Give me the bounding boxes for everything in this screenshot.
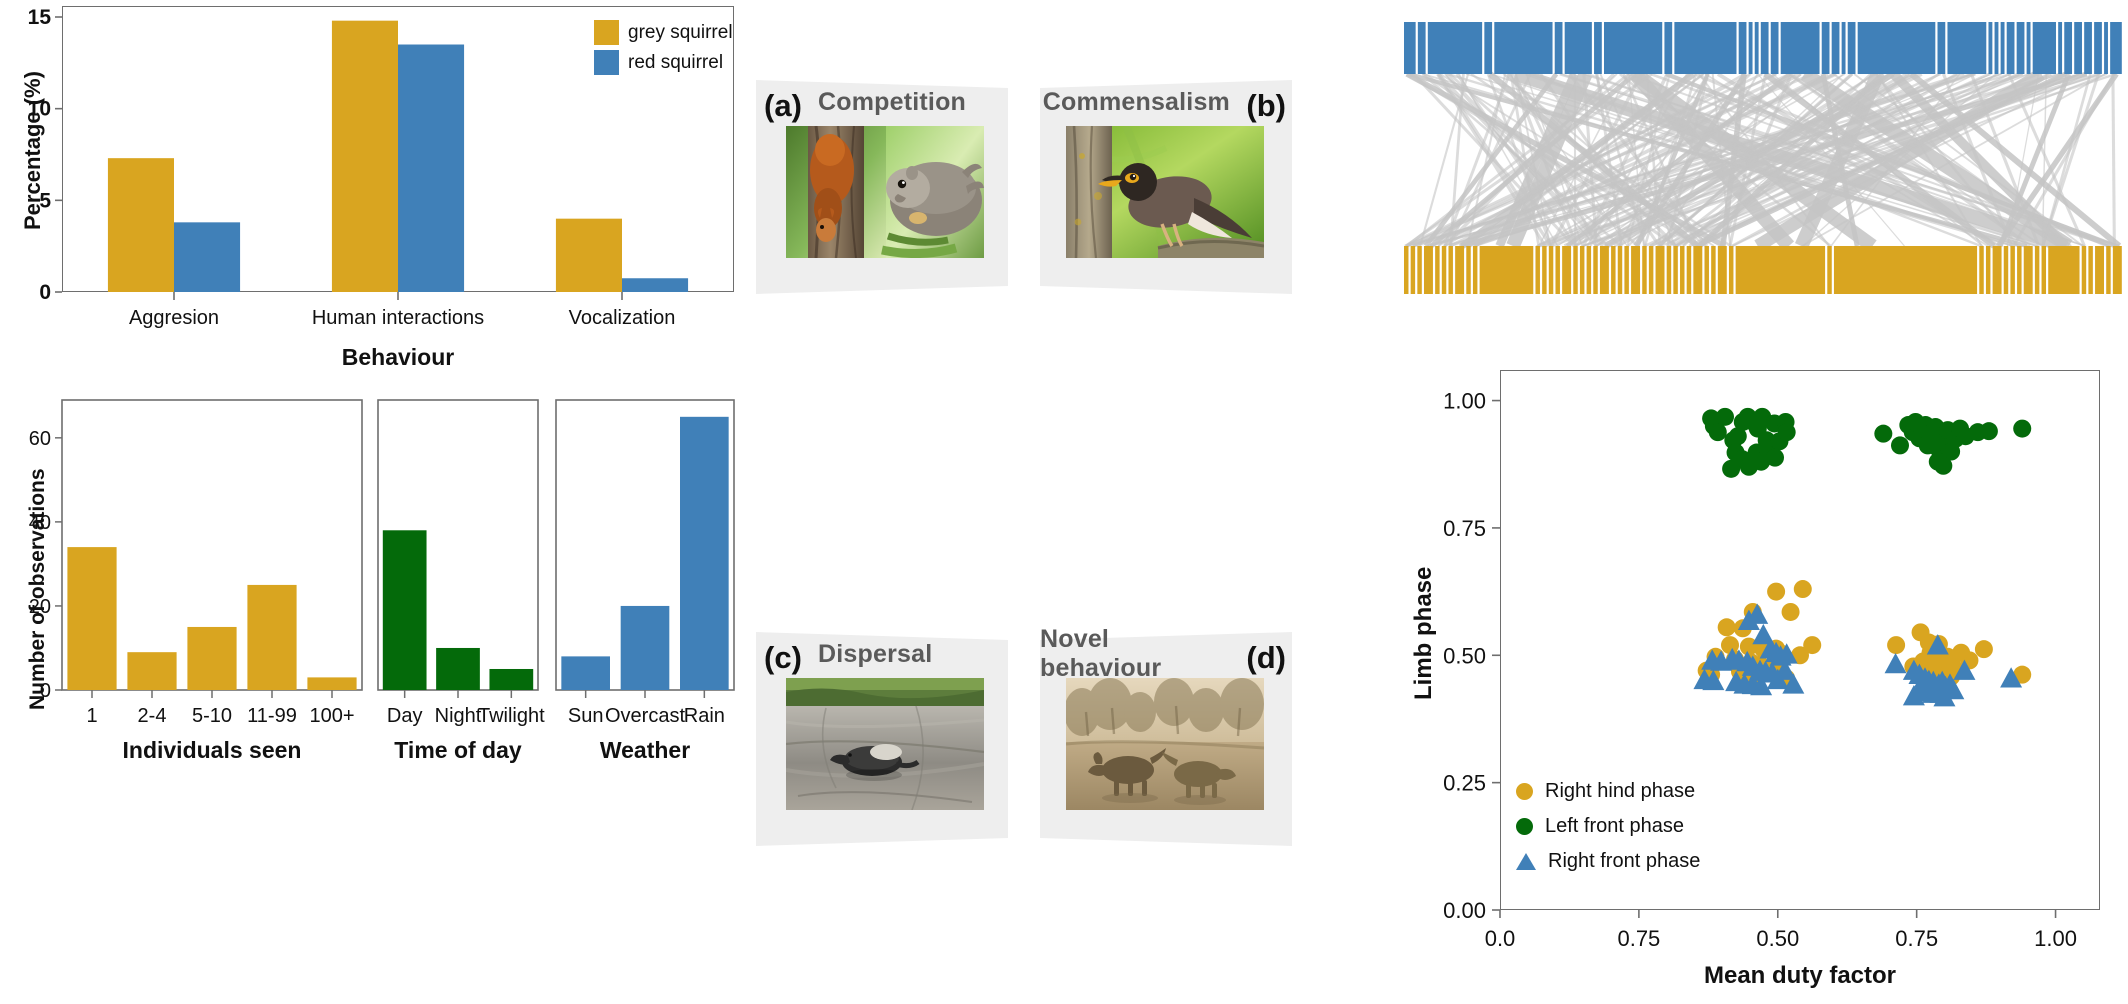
- bipartite-network: [1400, 0, 2128, 320]
- svg-text:0.50: 0.50: [1443, 643, 1486, 668]
- card-d-title: Novel behaviour: [1040, 632, 1292, 676]
- svg-text:Vocalization: Vocalization: [569, 307, 676, 329]
- svg-text:Aggresion: Aggresion: [129, 307, 219, 329]
- scatter-y-axis-title: Limb phase: [1410, 567, 1438, 700]
- svg-text:Twilight: Twilight: [478, 705, 545, 727]
- svg-text:1: 1: [86, 705, 97, 727]
- behaviour-legend-item: grey squirrel: [594, 20, 733, 45]
- svg-text:Time of day: Time of day: [394, 737, 522, 763]
- svg-text:15: 15: [28, 6, 52, 29]
- card-b-title: Commensalism: [1040, 80, 1292, 124]
- network-canvas: [1400, 0, 2128, 320]
- svg-text:0.75: 0.75: [1617, 926, 1660, 951]
- behaviour-legend-label: grey squirrel: [628, 22, 733, 44]
- svg-text:100+: 100+: [309, 705, 354, 727]
- photo-card-competition: (a) Competition: [756, 80, 1008, 294]
- legend-swatch-grey-squirrel: [594, 20, 619, 45]
- svg-text:Overcast: Overcast: [605, 705, 685, 727]
- scatter-legend-item: Right front phase: [1516, 850, 1700, 873]
- observations-y-axis-title: Number of observations: [26, 468, 50, 710]
- behaviour-legend: grey squirrelred squirrel: [594, 20, 733, 75]
- figure-composite: 051015AggresionHuman interactionsVocaliz…: [0, 0, 2128, 1004]
- chart-behaviour: 051015AggresionHuman interactionsVocaliz…: [0, 0, 760, 380]
- behaviour-legend-label: red squirrel: [628, 52, 723, 74]
- svg-text:5-10: 5-10: [192, 705, 232, 727]
- card-c-photo: [786, 678, 984, 810]
- svg-text:0.75: 0.75: [1895, 926, 1938, 951]
- scatter-canvas: 0.000.250.500.751.000.00.750.500.751.00: [1390, 350, 2128, 1004]
- legend-triangle-icon: [1516, 853, 1536, 870]
- photo-card-novel-behaviour: (d) Novel behaviour: [1040, 632, 1292, 846]
- behaviour-legend-item: red squirrel: [594, 50, 733, 75]
- svg-text:0.75: 0.75: [1443, 516, 1486, 541]
- scatter-legend-label: Left front phase: [1545, 815, 1684, 838]
- legend-swatch-red-squirrel: [594, 50, 619, 75]
- scatter-x-axis-title: Mean duty factor: [1500, 962, 2100, 990]
- svg-text:1.00: 1.00: [1443, 389, 1486, 414]
- card-a-title: Competition: [756, 80, 1008, 124]
- scatter-legend-label: Right hind phase: [1545, 780, 1695, 803]
- observations-canvas: 020406012-45-1011-99100+Individuals seen…: [0, 380, 760, 1004]
- svg-text:Individuals seen: Individuals seen: [123, 737, 302, 763]
- svg-text:Day: Day: [387, 705, 423, 727]
- svg-text:Rain: Rain: [684, 705, 725, 727]
- scatter-legend-item: Right hind phase: [1516, 780, 1700, 803]
- card-a-photo: [786, 126, 984, 258]
- legend-circle-icon: [1516, 783, 1533, 800]
- chart-observations: 020406012-45-1011-99100+Individuals seen…: [0, 380, 760, 1004]
- svg-text:2-4: 2-4: [138, 705, 167, 727]
- svg-text:0.00: 0.00: [1443, 898, 1486, 923]
- behaviour-y-axis-title: Percentage (%): [20, 71, 46, 230]
- svg-text:0: 0: [39, 281, 51, 304]
- svg-text:Human interactions: Human interactions: [312, 307, 484, 329]
- svg-text:0.0: 0.0: [1485, 926, 1516, 951]
- svg-text:0.50: 0.50: [1756, 926, 1799, 951]
- card-c-title: Dispersal: [756, 632, 1008, 676]
- svg-text:60: 60: [29, 428, 51, 450]
- photo-card-dispersal: (c) Dispersal: [756, 632, 1008, 846]
- scatter-legend-item: Left front phase: [1516, 815, 1700, 838]
- svg-text:Night: Night: [435, 705, 482, 727]
- chart-limb-phase: 0.000.250.500.751.000.00.750.500.751.00 …: [1390, 350, 2128, 1004]
- photo-card-commensalism: (b) Commensalism: [1040, 80, 1292, 294]
- behaviour-x-axis-title: Behaviour: [62, 344, 734, 371]
- svg-text:0.25: 0.25: [1443, 771, 1486, 796]
- card-b-photo: [1066, 126, 1264, 258]
- svg-text:Weather: Weather: [600, 737, 690, 763]
- legend-circle-icon: [1516, 818, 1533, 835]
- scatter-legend-label: Right front phase: [1548, 850, 1700, 873]
- scatter-legend: Right hind phaseLeft front phaseRight fr…: [1516, 780, 1700, 873]
- svg-text:Sun: Sun: [568, 705, 604, 727]
- svg-text:1.00: 1.00: [2034, 926, 2077, 951]
- svg-text:11-99: 11-99: [247, 705, 297, 727]
- card-d-photo: [1066, 678, 1264, 810]
